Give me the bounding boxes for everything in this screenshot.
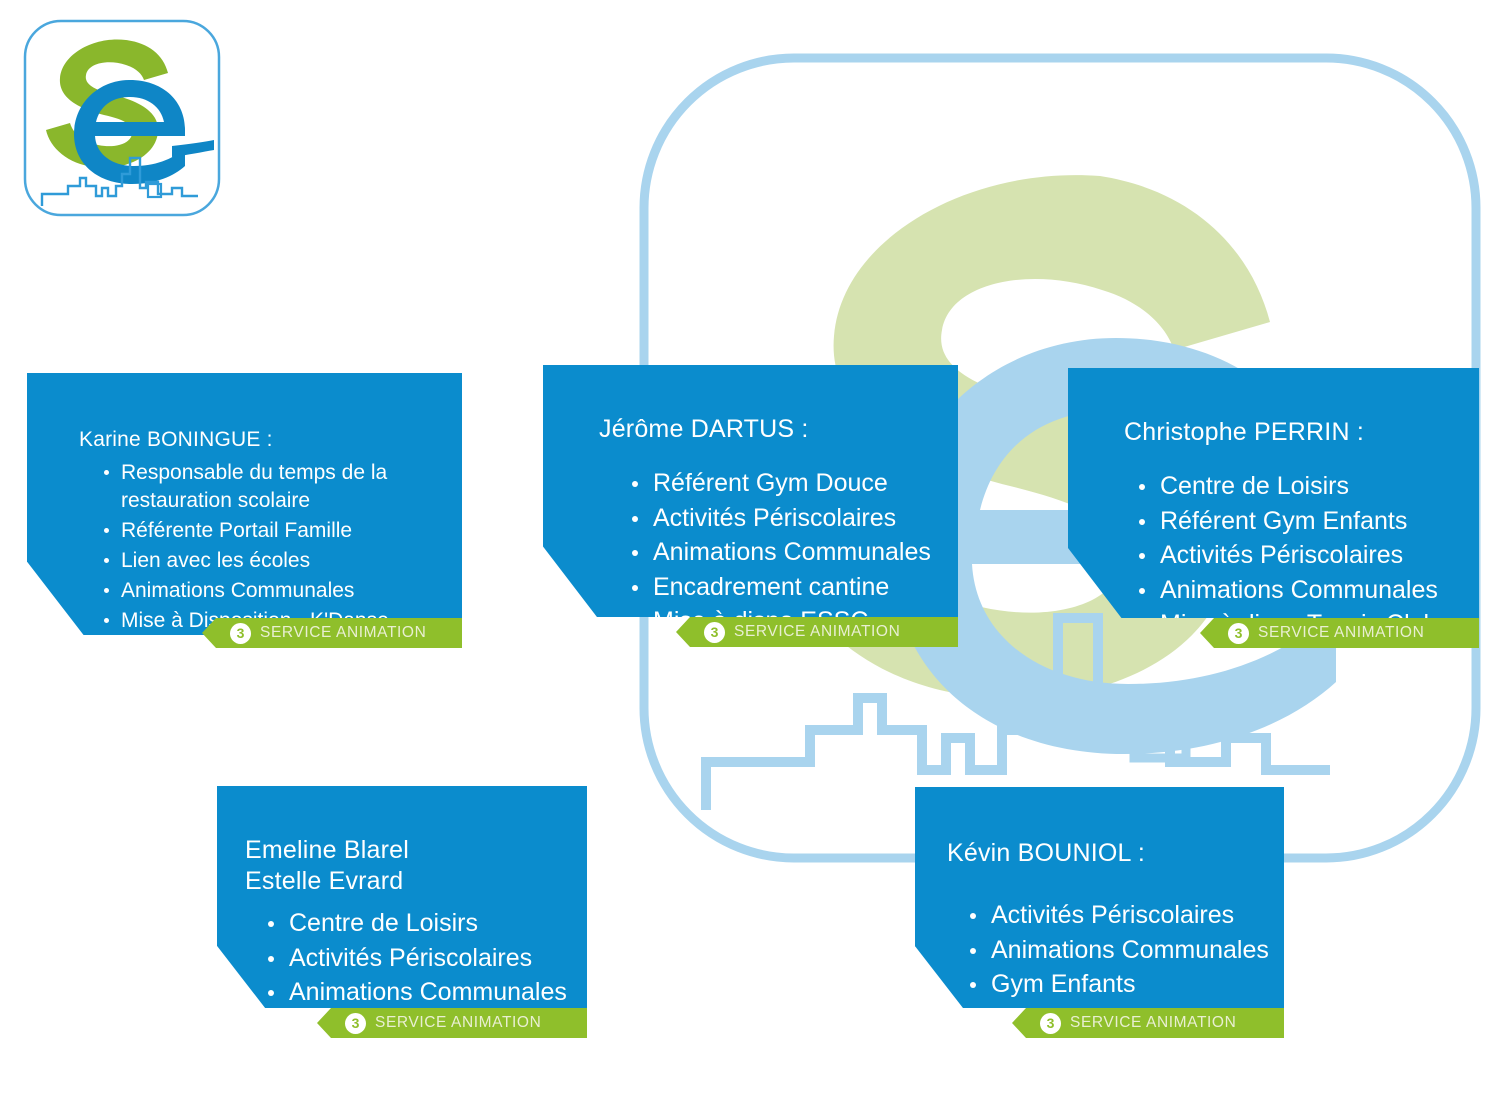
- service-tag-emeline-estelle[interactable]: 3 SERVICE ANIMATION: [317, 1008, 587, 1038]
- person-card-emeline-estelle[interactable]: Emeline Blarel Estelle Evrard Centre de …: [217, 786, 587, 1008]
- person-card-christophe-perrin[interactable]: Christophe PERRIN : Centre de Loisirs Ré…: [1068, 368, 1479, 618]
- responsibility-list: Responsable du temps de la restauration …: [79, 459, 446, 635]
- person-name: Christophe PERRIN :: [1124, 418, 1364, 446]
- service-number-badge: 3: [1040, 1013, 1061, 1034]
- list-item: Centre de Loisirs: [1136, 470, 1467, 503]
- service-tag-kevin-bouniol[interactable]: 3 SERVICE ANIMATION: [1012, 1008, 1284, 1038]
- card-title: Emeline Blarel Estelle Evrard: [245, 804, 575, 897]
- responsibility-list: Centre de Loisirs Référent Gym Enfants A…: [1124, 470, 1467, 641]
- card-content: Jérôme DARTUS : Référent Gym Douce Activ…: [543, 365, 958, 638]
- card-title: Kévin BOUNIOL :: [947, 807, 1272, 869]
- service-number-badge: 3: [230, 623, 251, 644]
- card-title: Christophe PERRIN :: [1124, 386, 1467, 448]
- person-card-karine-boningue[interactable]: Karine BONINGUE : Responsable du temps d…: [27, 373, 462, 635]
- card-content: Emeline Blarel Estelle Evrard Centre de …: [217, 786, 587, 1043]
- service-number-badge: 3: [1228, 623, 1249, 644]
- responsibility-list: Référent Gym Douce Activités Périscolair…: [599, 467, 944, 638]
- list-item: Référente Portail Famille: [101, 517, 446, 545]
- logo-svg: [22, 18, 222, 218]
- person-name: Kévin BOUNIOL :: [947, 839, 1145, 867]
- list-item: Animations Communales: [1136, 574, 1467, 607]
- service-number-badge: 3: [704, 622, 725, 643]
- person-name: Jérôme DARTUS :: [599, 415, 809, 443]
- list-item: Animations Communales: [629, 536, 944, 569]
- service-tag-label: SERVICE ANIMATION: [375, 1014, 541, 1032]
- card-title: Karine BONINGUE :: [79, 401, 446, 453]
- card-content: Christophe PERRIN : Centre de Loisirs Ré…: [1068, 368, 1479, 641]
- service-tag-christophe-perrin[interactable]: 3 SERVICE ANIMATION: [1200, 618, 1479, 648]
- list-item: Activités Périscolaires: [967, 899, 1272, 932]
- list-item: Référent Gym Douce: [629, 467, 944, 500]
- service-tag-label: SERVICE ANIMATION: [260, 624, 426, 642]
- watermark-skyline-box: [1134, 706, 1186, 758]
- service-tag-label: SERVICE ANIMATION: [734, 623, 900, 641]
- list-item: Animations Communales: [265, 976, 575, 1009]
- list-item: Lien avec les écoles: [101, 547, 446, 575]
- organisation-logo: [22, 18, 222, 218]
- service-tag-jerome-dartus[interactable]: 3 SERVICE ANIMATION: [676, 617, 958, 647]
- service-number-badge: 3: [345, 1013, 366, 1034]
- list-item: Responsable du temps de la restauration …: [101, 459, 446, 515]
- card-content: Karine BONINGUE : Responsable du temps d…: [27, 373, 462, 635]
- list-item: Activités Périscolaires: [629, 502, 944, 535]
- list-item: Centre de Loisirs: [265, 907, 575, 940]
- person-name: Karine BONINGUE :: [79, 428, 273, 451]
- list-item: Animations Communales: [101, 577, 446, 605]
- service-tag-karine-boningue[interactable]: 3 SERVICE ANIMATION: [202, 618, 462, 648]
- card-content: Kévin BOUNIOL : Activités Périscolaires …: [915, 787, 1284, 1035]
- person-name: Emeline Blarel Estelle Evrard: [245, 836, 409, 895]
- person-card-jerome-dartus[interactable]: Jérôme DARTUS : Référent Gym Douce Activ…: [543, 365, 958, 617]
- person-card-kevin-bouniol[interactable]: Kévin BOUNIOL : Activités Périscolaires …: [915, 787, 1284, 1008]
- organigramme-page: Karine BONINGUE : Responsable du temps d…: [0, 0, 1500, 1118]
- list-item: Activités Périscolaires: [1136, 539, 1467, 572]
- service-tag-label: SERVICE ANIMATION: [1070, 1014, 1236, 1032]
- list-item: Animations Communales: [967, 934, 1272, 967]
- service-tag-label: SERVICE ANIMATION: [1258, 624, 1424, 642]
- list-item: Référent Gym Enfants: [1136, 505, 1467, 538]
- list-item: Gym Enfants: [967, 968, 1272, 1001]
- list-item: Encadrement cantine: [629, 571, 944, 604]
- card-title: Jérôme DARTUS :: [599, 383, 944, 445]
- list-item: Activités Périscolaires: [265, 942, 575, 975]
